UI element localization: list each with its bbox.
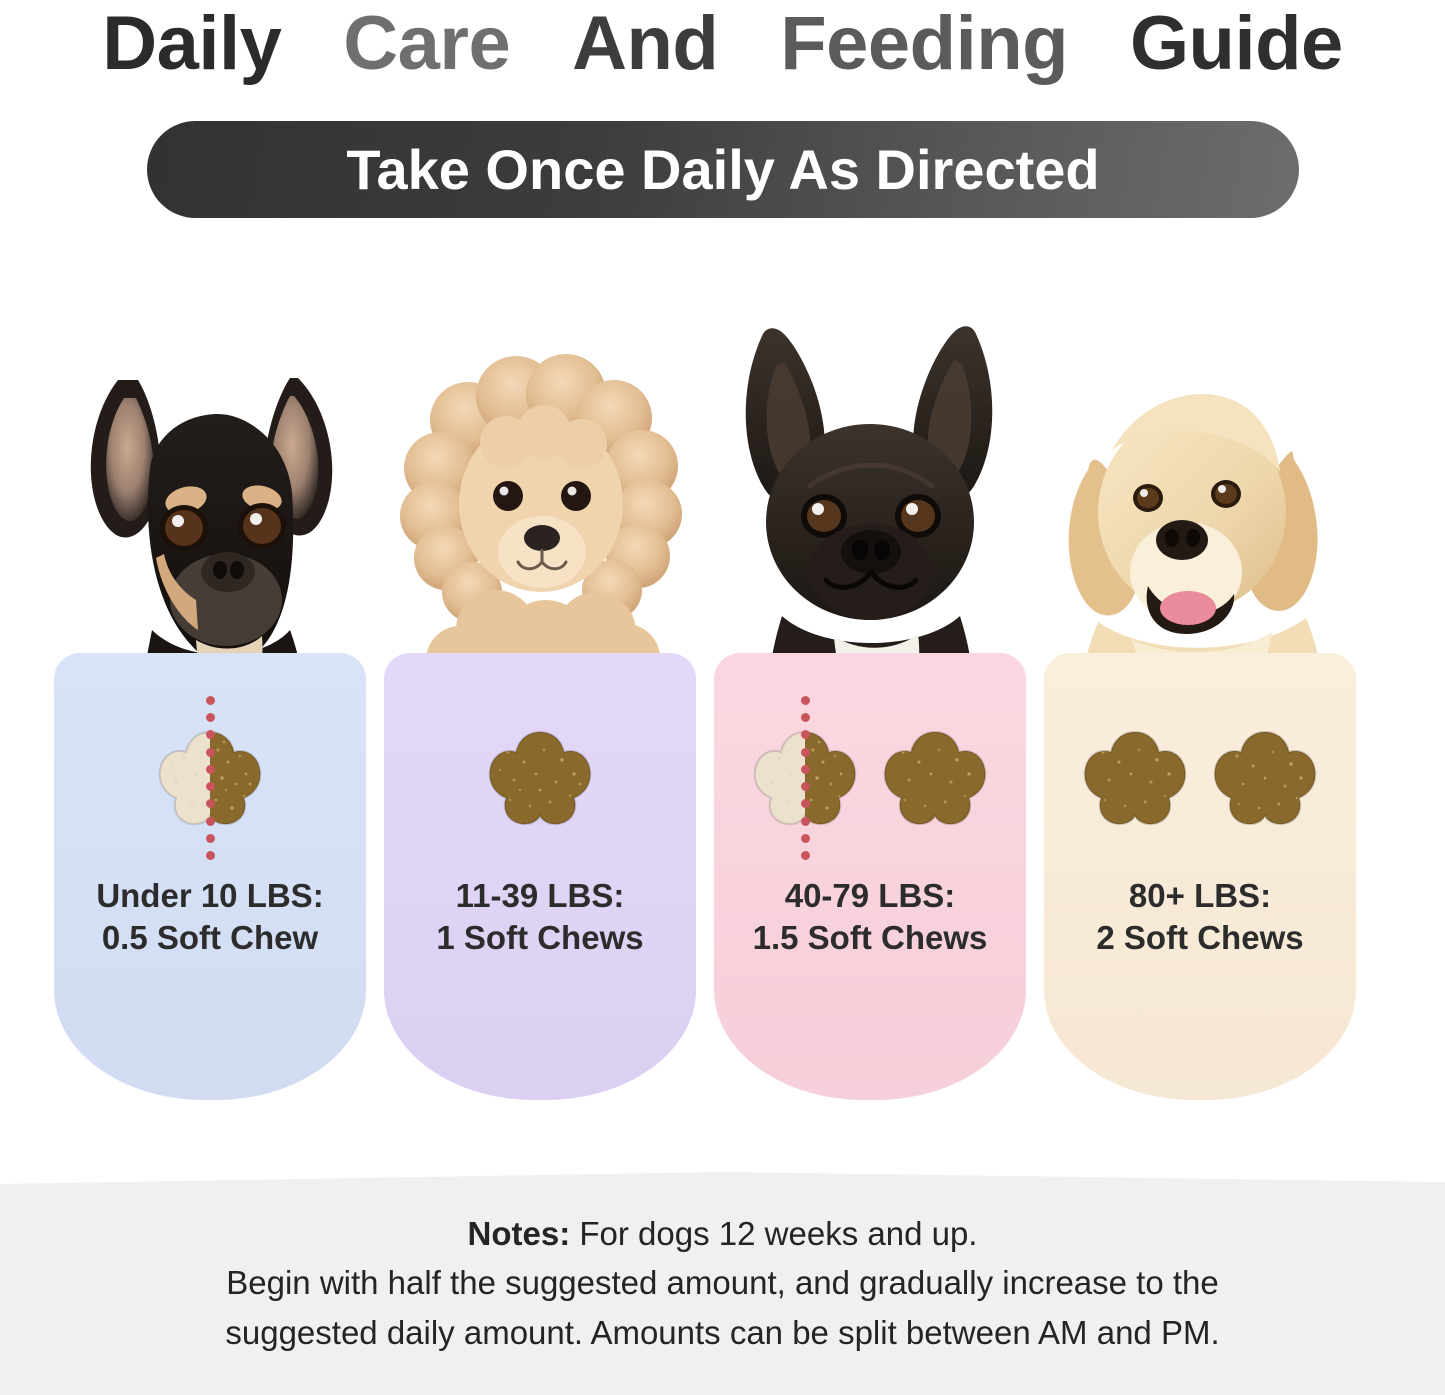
chew-half-icon bbox=[154, 722, 266, 834]
notes-line-1-text: For dogs 12 weeks and up. bbox=[570, 1215, 977, 1252]
title-space bbox=[739, 1, 760, 86]
notes-panel: Notes: For dogs 12 weeks and up. Begin w… bbox=[0, 1172, 1445, 1395]
dosage-labels: 40-79 LBS: 1.5 Soft Chews bbox=[714, 875, 1026, 959]
dosage-card: 11-39 LBS: 1 Soft Chews bbox=[376, 300, 706, 1120]
notes-line-3: suggested daily amount. Amounts can be s… bbox=[225, 1315, 1219, 1351]
notes-content: Notes: For dogs 12 weeks and up. Begin w… bbox=[0, 1172, 1445, 1395]
notes-line-2: Begin with half the suggested amount, an… bbox=[226, 1265, 1218, 1301]
dog-photo-french-bulldog bbox=[706, 300, 1036, 700]
chew-illustration-group bbox=[1044, 693, 1356, 863]
title-word-2: Care bbox=[343, 6, 510, 82]
title-space bbox=[302, 1, 323, 86]
dose-amount-label: 1.5 Soft Chews bbox=[714, 917, 1026, 959]
dosage-card-row: Under 10 LBS: 0.5 Soft Chew bbox=[0, 300, 1445, 1120]
dosage-labels: 80+ LBS: 2 Soft Chews bbox=[1044, 875, 1356, 959]
chew-full-icon bbox=[879, 722, 991, 834]
notes-label: Notes: bbox=[468, 1215, 571, 1252]
title-word-5: Guide bbox=[1130, 6, 1343, 82]
title-space bbox=[531, 1, 552, 86]
chew-illustration-group bbox=[384, 693, 696, 863]
title-word-3: And bbox=[572, 6, 718, 82]
directions-banner: Take Once Daily As Directed bbox=[147, 121, 1299, 218]
dog-photo-poodle bbox=[376, 300, 706, 700]
title-space bbox=[1089, 1, 1110, 86]
dose-amount-label: 0.5 Soft Chew bbox=[54, 917, 366, 959]
weight-range-label: 40-79 LBS: bbox=[714, 875, 1026, 917]
feeding-guide-infographic: Daily Care And Feeding Guide Take Once D… bbox=[0, 0, 1445, 1395]
weight-range-label: Under 10 LBS: bbox=[54, 875, 366, 917]
title-word-1: Daily bbox=[102, 6, 281, 82]
chew-illustration-group bbox=[54, 693, 366, 863]
dose-amount-label: 2 Soft Chews bbox=[1044, 917, 1356, 959]
dog-photo-chihuahua bbox=[46, 300, 376, 700]
chew-full-icon bbox=[484, 722, 596, 834]
dosage-card: 80+ LBS: 2 Soft Chews bbox=[1036, 300, 1366, 1120]
chew-full-icon bbox=[1079, 722, 1191, 834]
chew-half-icon bbox=[749, 722, 861, 834]
chew-full-icon bbox=[1209, 722, 1321, 834]
weight-range-label: 80+ LBS: bbox=[1044, 875, 1356, 917]
directions-banner-text: Take Once Daily As Directed bbox=[346, 142, 1099, 198]
dosage-card: 40-79 LBS: 1.5 Soft Chews bbox=[706, 300, 1036, 1120]
dosage-card: Under 10 LBS: 0.5 Soft Chew bbox=[46, 300, 376, 1120]
dosage-labels: Under 10 LBS: 0.5 Soft Chew bbox=[54, 875, 366, 959]
dosage-panel: 80+ LBS: 2 Soft Chews bbox=[1044, 653, 1356, 1100]
dosage-panel: 11-39 LBS: 1 Soft Chews bbox=[384, 653, 696, 1100]
dosage-labels: 11-39 LBS: 1 Soft Chews bbox=[384, 875, 696, 959]
notes-line-1: Notes: For dogs 12 weeks and up. bbox=[468, 1216, 978, 1252]
dose-amount-label: 1 Soft Chews bbox=[384, 917, 696, 959]
weight-range-label: 11-39 LBS: bbox=[384, 875, 696, 917]
dosage-panel: Under 10 LBS: 0.5 Soft Chew bbox=[54, 653, 366, 1100]
dosage-panel: 40-79 LBS: 1.5 Soft Chews bbox=[714, 653, 1026, 1100]
page-title: Daily Care And Feeding Guide bbox=[0, 6, 1445, 82]
title-word-4: Feeding bbox=[780, 6, 1068, 82]
chew-illustration-group bbox=[714, 693, 1026, 863]
dog-photo-golden-retriever bbox=[1036, 300, 1366, 700]
